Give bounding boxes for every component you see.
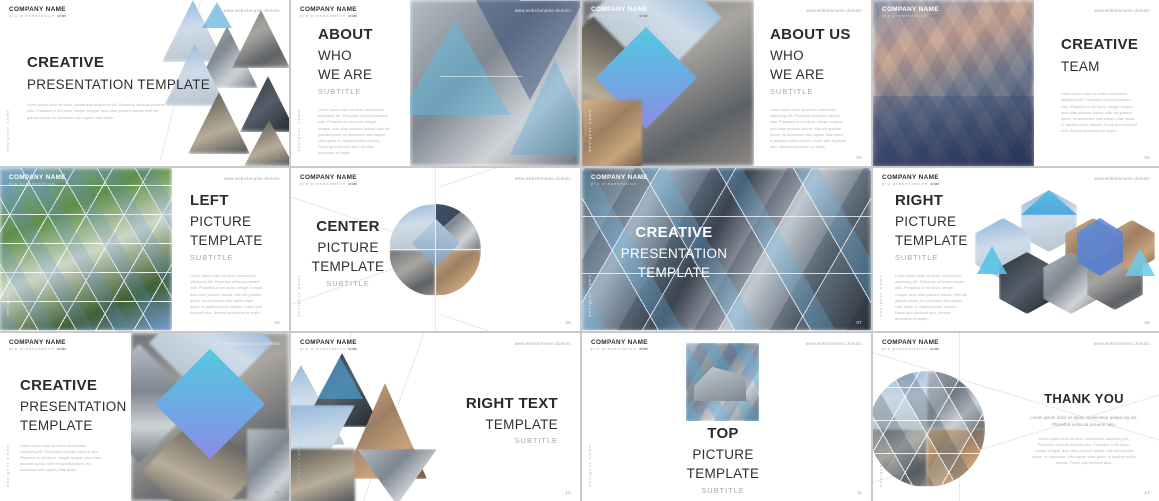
page-number: 09 bbox=[275, 490, 280, 495]
company-subtitle: pro presentation slide bbox=[591, 15, 648, 19]
website-url: www.websitename.domain bbox=[515, 176, 571, 181]
designer-name: designer name bbox=[878, 274, 883, 317]
slide-body-text: Lorem ipsum dolor sit amet, consectetur … bbox=[27, 102, 167, 120]
company-name: COMPANY NAME bbox=[9, 340, 66, 346]
slide-title-line1: CREATIVE bbox=[27, 54, 217, 73]
page-number: 08 bbox=[1145, 320, 1150, 325]
slide-title-line1: CENTER bbox=[305, 218, 391, 237]
title-block: CREATIVE PRESENTATION TEMPLATE Lorem ips… bbox=[20, 377, 126, 473]
website-url: www.websitename.domain bbox=[1094, 341, 1150, 346]
company-name: COMPANY NAME bbox=[882, 7, 939, 13]
slide-title-line1: CREATIVE bbox=[20, 377, 126, 396]
company-name: COMPANY NAME bbox=[591, 175, 648, 181]
slide-header: COMPANY NAME pro presentation slide bbox=[882, 340, 939, 352]
website-url: www.websitename.domain bbox=[224, 8, 280, 13]
slide-body-text: Lorem ipsum dolor sit amet, consectetur … bbox=[20, 443, 102, 474]
designer-name: designer name bbox=[878, 444, 883, 487]
title-block: RIGHT PICTURE TEMPLATE SUBTITLE Lorem ip… bbox=[895, 192, 987, 322]
slide-header: COMPANY NAME pro presentation slide bbox=[300, 7, 357, 19]
website-url: www.websitename.domain bbox=[806, 341, 862, 346]
title-block: CREATIVE PRESENTATION TEMPLATE bbox=[594, 224, 754, 282]
slide-subtitle: SUBTITLE bbox=[305, 279, 391, 289]
designer-name: designer name bbox=[587, 444, 592, 487]
website-url: www.websitename.domain bbox=[224, 341, 280, 346]
designer-name: designer name bbox=[587, 109, 592, 152]
top-picture bbox=[686, 343, 759, 421]
company-name: COMPANY NAME bbox=[882, 340, 939, 346]
slide-title-line2: TEMPLATE bbox=[448, 416, 558, 434]
slide-title-line3: TEMPLATE bbox=[666, 465, 780, 483]
slide-title-line1: CREATIVE bbox=[1061, 36, 1155, 55]
slide-subtitle: SUBTITLE bbox=[770, 87, 866, 97]
website-url: www.websitename.domain bbox=[515, 341, 571, 346]
company-name: COMPANY NAME bbox=[591, 7, 648, 13]
designer-name: designer name bbox=[296, 444, 301, 487]
slide-header: COMPANY NAME pro presentation slide bbox=[9, 340, 66, 352]
page-number: 03 bbox=[857, 155, 862, 160]
company-subtitle: pro presentation slide bbox=[300, 348, 357, 352]
slide-title-line1: CREATIVE bbox=[594, 224, 754, 243]
title-block: RIGHT TEXT TEMPLATE SUBTITLE bbox=[448, 395, 558, 447]
page-number: 01 bbox=[275, 155, 280, 160]
slide-1[interactable]: COMPANY NAME pro presentation slide www.… bbox=[0, 0, 289, 166]
slide-title-line2: WHO bbox=[770, 47, 866, 65]
slide-subtitle: SUBTITLE bbox=[666, 486, 780, 496]
slide-header: COMPANY NAME pro presentation slide bbox=[300, 340, 357, 352]
slide-body-text: Lorem ipsum dolor sit amet, consectetur … bbox=[770, 107, 848, 150]
designer-name: designer name bbox=[296, 274, 301, 317]
company-subtitle: pro presentation slide bbox=[591, 183, 648, 187]
slide-title-line2: PICTURE bbox=[305, 239, 391, 257]
slide-title-line2: PRESENTATION TEMPLATE bbox=[27, 76, 217, 94]
slide-subtitle: SUBTITLE bbox=[895, 253, 987, 263]
company-name: COMPANY NAME bbox=[591, 340, 648, 346]
page-number: 02 bbox=[566, 155, 571, 160]
photo-diamond-overlay bbox=[582, 0, 754, 166]
slide-header: COMPANY NAME pro presentation slide bbox=[882, 175, 939, 187]
slide-title-line3: TEMPLATE bbox=[20, 417, 126, 435]
slide-subtitle: SUBTITLE bbox=[318, 87, 418, 97]
slide-12[interactable]: COMPANY NAME pro presentation slide www.… bbox=[873, 333, 1159, 501]
slide-header: COMPANY NAME pro presentation slide bbox=[591, 175, 648, 187]
designer-name: designer name bbox=[5, 444, 10, 487]
slide-title-line1: RIGHT bbox=[895, 192, 987, 211]
designer-name: designer name bbox=[587, 274, 592, 317]
slide-10[interactable]: COMPANY NAME pro presentation slide www.… bbox=[291, 333, 580, 501]
company-subtitle: pro presentation slide bbox=[300, 15, 357, 19]
company-subtitle: pro presentation slide bbox=[9, 183, 66, 187]
company-name: COMPANY NAME bbox=[300, 7, 357, 13]
page-number: 04 bbox=[1145, 155, 1150, 160]
page-number: 10 bbox=[566, 490, 571, 495]
slide-5[interactable]: COMPANY NAME pro presentation slide www.… bbox=[0, 168, 289, 331]
slide-title-line2: PICTURE bbox=[666, 446, 780, 464]
company-name: COMPANY NAME bbox=[300, 175, 357, 181]
slide-grid: COMPANY NAME pro presentation slide www.… bbox=[0, 0, 1159, 500]
title-block: CREATIVE TEAM Lorem ipsum dolor sit amet… bbox=[1061, 36, 1155, 134]
website-url: www.websitename.domain bbox=[224, 176, 280, 181]
page-number: 07 bbox=[857, 320, 862, 325]
website-url: www.websitename.domain bbox=[806, 8, 862, 13]
slide-title-line2: PICTURE bbox=[190, 213, 286, 231]
designer-name: designer name bbox=[5, 274, 10, 317]
company-name: COMPANY NAME bbox=[9, 175, 66, 181]
company-subtitle: pro presentation slide bbox=[882, 15, 939, 19]
slide-8[interactable]: COMPANY NAME pro presentation slide www.… bbox=[873, 168, 1159, 331]
page-number: 12 bbox=[1145, 490, 1150, 495]
slide-title-line3: WE ARE bbox=[318, 66, 418, 84]
slide-header: COMPANY NAME pro presentation slide bbox=[591, 7, 648, 19]
slide-header: COMPANY NAME pro presentation slide bbox=[9, 175, 66, 187]
slide-title-line3: TEMPLATE bbox=[305, 258, 391, 276]
designer-name: designer name bbox=[5, 109, 10, 152]
title-block: THANK YOU Lorem ipsum dolor sit amet, co… bbox=[1021, 391, 1147, 466]
company-subtitle: pro presentation slide bbox=[300, 183, 357, 187]
slide-title-line3: WE ARE bbox=[770, 66, 866, 84]
slide-title-line2: TEAM bbox=[1061, 58, 1155, 76]
slide-title-line2: WHO bbox=[318, 47, 418, 65]
slide-subtitle: SUBTITLE bbox=[190, 253, 286, 263]
diamond-photo-cluster bbox=[131, 333, 289, 501]
triangle-mosaic-green bbox=[0, 168, 172, 331]
photo-triangle-mosaic bbox=[873, 0, 1034, 166]
slide-title-line3: TEMPLATE bbox=[895, 232, 987, 250]
slide-title-line1: TOP bbox=[666, 425, 780, 444]
slide-header: COMPANY NAME pro presentation slide bbox=[591, 340, 648, 352]
circle-photo-collage bbox=[389, 204, 481, 296]
slide-title-line1: RIGHT TEXT bbox=[448, 395, 558, 414]
slide-title-line2: PRESENTATION bbox=[20, 398, 126, 416]
company-subtitle: pro presentation slide bbox=[9, 348, 66, 352]
title-block: CREATIVE PRESENTATION TEMPLATE Lorem ips… bbox=[27, 54, 217, 121]
title-block: ABOUT US WHO WE ARE SUBTITLE Lorem ipsum… bbox=[770, 26, 866, 150]
triangle-photo-cluster bbox=[291, 353, 459, 501]
slide-title-line3: TEMPLATE bbox=[190, 232, 286, 250]
slide-9[interactable]: COMPANY NAME pro presentation slide www.… bbox=[0, 333, 289, 501]
hexagon-photo-collage bbox=[969, 190, 1154, 315]
slide-7[interactable]: COMPANY NAME pro presentation slide desi… bbox=[582, 168, 871, 331]
company-subtitle: pro presentation slide bbox=[882, 348, 939, 352]
company-name: COMPANY NAME bbox=[9, 7, 66, 13]
slide-title-line1: LEFT bbox=[190, 192, 286, 211]
slide-11[interactable]: COMPANY NAME pro presentation slide www.… bbox=[582, 333, 871, 501]
website-url: www.websitename.domain bbox=[1094, 176, 1150, 181]
slide-header: COMPANY NAME pro presentation slide bbox=[882, 7, 939, 19]
designer-name: designer name bbox=[296, 109, 301, 152]
slide-4[interactable]: COMPANY NAME pro presentation slide www.… bbox=[873, 0, 1159, 166]
slide-lead-text: Lorem ipsum dolor sit amet, consectetur … bbox=[1021, 414, 1147, 428]
company-subtitle: pro presentation slide bbox=[9, 15, 66, 19]
company-name: COMPANY NAME bbox=[300, 340, 357, 346]
title-block: CENTER PICTURE TEMPLATE SUBTITLE bbox=[305, 218, 391, 289]
slide-title-line1: ABOUT US bbox=[770, 26, 866, 45]
title-block: LEFT PICTURE TEMPLATE SUBTITLE Lorem ips… bbox=[190, 192, 286, 316]
page-number: 05 bbox=[275, 320, 280, 325]
slide-body-text: Lorem ipsum dolor sit amet, consectetur … bbox=[318, 107, 390, 156]
photo-triangle-overlay bbox=[410, 0, 580, 166]
slide-subtitle: SUBTITLE bbox=[448, 436, 558, 446]
page-number: 06 bbox=[566, 320, 571, 325]
slide-title-line1: THANK YOU bbox=[1021, 391, 1147, 407]
slide-header: COMPANY NAME pro presentation slide bbox=[9, 7, 66, 19]
title-block: TOP PICTURE TEMPLATE SUBTITLE bbox=[666, 425, 780, 496]
slide-body-text: Lorem ipsum dolor sit amet, consectetur … bbox=[190, 273, 264, 316]
website-url: www.websitename.domain bbox=[1094, 8, 1150, 13]
company-subtitle: pro presentation slide bbox=[591, 348, 648, 352]
slide-body-text: Lorem ipsum dolor sit amet, consectetur … bbox=[1061, 91, 1137, 134]
page-number: 11 bbox=[857, 490, 862, 495]
slide-title-line3: TEMPLATE bbox=[594, 264, 754, 282]
slide-title-line1: ABOUT bbox=[318, 26, 418, 45]
slide-6[interactable]: COMPANY NAME pro presentation slide www.… bbox=[291, 168, 580, 331]
slide-body-text: Lorem ipsum dolor sit amet, consectetur … bbox=[1032, 436, 1136, 467]
website-url: www.websitename.domain bbox=[515, 8, 571, 13]
slide-3[interactable]: COMPANY NAME pro presentation slide www.… bbox=[582, 0, 871, 166]
slide-title-line2: PRESENTATION bbox=[594, 245, 754, 263]
title-block: ABOUT WHO WE ARE SUBTITLE Lorem ipsum do… bbox=[318, 26, 418, 156]
slide-title-line2: PICTURE bbox=[895, 213, 987, 231]
slide-header: COMPANY NAME pro presentation slide bbox=[300, 175, 357, 187]
circle-photo-collage bbox=[873, 371, 985, 487]
company-name: COMPANY NAME bbox=[882, 175, 939, 181]
slide-2[interactable]: COMPANY NAME pro presentation slide www.… bbox=[291, 0, 580, 166]
company-subtitle: pro presentation slide bbox=[882, 183, 939, 187]
slide-body-text: Lorem ipsum dolor sit amet, consectetur … bbox=[895, 273, 967, 322]
